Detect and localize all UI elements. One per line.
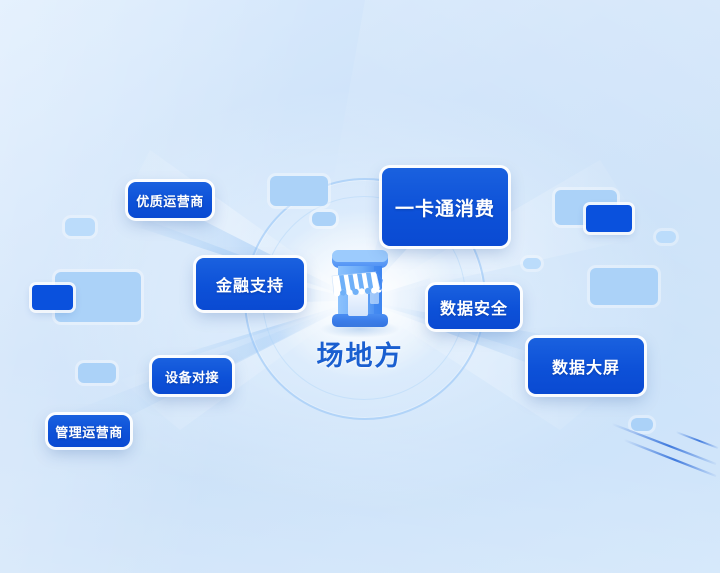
node-label: 数据大屏 (552, 354, 620, 378)
infographic-canvas: 场地方 一卡通消费 数据大屏 数据安全 金融支持 优质运营商 设备对接 管理运营… (0, 0, 720, 573)
node-label: 数据安全 (440, 295, 508, 319)
storefront-icon (318, 246, 402, 336)
node-financial-support[interactable]: 金融支持 (196, 258, 304, 310)
node-label: 设备对接 (165, 367, 219, 386)
node-label: 管理运营商 (55, 422, 123, 441)
node-quality-operator[interactable]: 优质运营商 (128, 182, 212, 218)
node-data-security[interactable]: 数据安全 (428, 285, 520, 329)
node-label: 一卡通消费 (395, 194, 495, 221)
node-device-integration[interactable]: 设备对接 (152, 358, 232, 394)
node-card-payment[interactable]: 一卡通消费 (382, 168, 508, 246)
node-label: 金融支持 (216, 272, 284, 296)
node-label: 优质运营商 (136, 191, 204, 210)
node-data-dashboard[interactable]: 数据大屏 (528, 338, 644, 394)
node-management-operator[interactable]: 管理运营商 (48, 415, 130, 447)
